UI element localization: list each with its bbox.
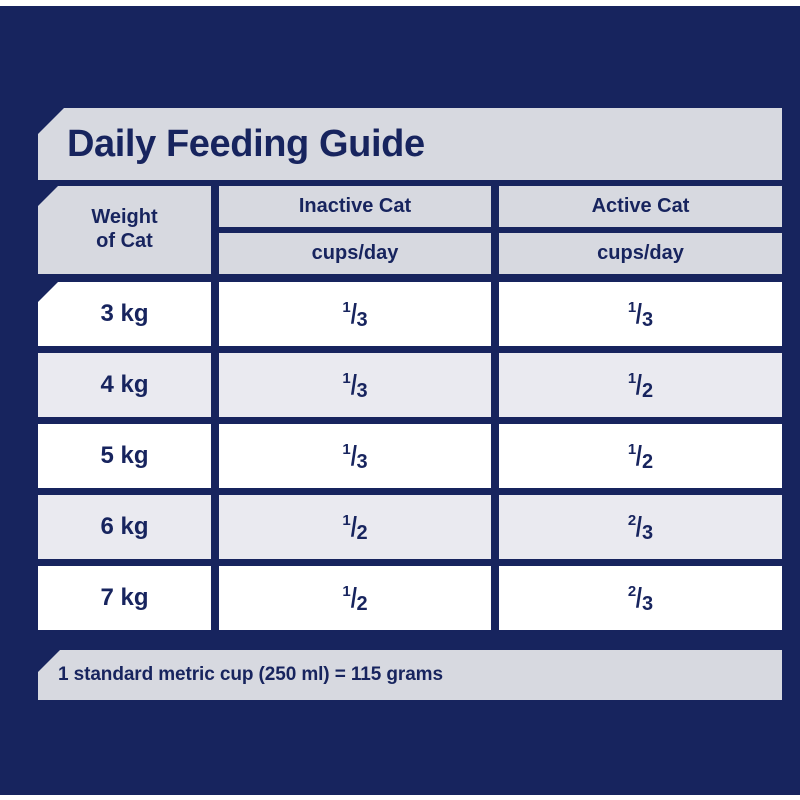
column-header-weight: Weight of Cat: [38, 186, 211, 274]
fraction-inactive: 1/2: [342, 584, 367, 612]
fraction-denominator: 2: [357, 594, 368, 614]
fraction-denominator: 2: [642, 452, 653, 472]
fraction-inactive: 1/2: [342, 513, 367, 541]
feeding-table: Weight of Cat Inactive Cat cups/day Acti…: [38, 186, 782, 638]
fraction-active: 1/2: [628, 442, 653, 470]
fraction-denominator: 3: [642, 310, 653, 330]
cell-active-amount: 1/2: [499, 424, 782, 488]
cell-weight: 4 kg: [38, 353, 211, 417]
column-header-active-unit-label: cups/day: [597, 242, 684, 266]
fraction-active: 1/2: [628, 371, 653, 399]
cell-weight: 7 kg: [38, 566, 211, 630]
cell-weight-value: 3 kg: [100, 300, 148, 328]
feeding-guide-panel: Daily Feeding Guide Weight of Cat Inacti…: [0, 0, 800, 800]
fraction-denominator: 3: [642, 594, 653, 614]
cell-inactive-amount: 1/3: [219, 424, 491, 488]
fraction-active: 1/3: [628, 300, 653, 328]
column-header-inactive: Inactive Cat: [219, 186, 491, 227]
header-banner: Daily Feeding Guide: [38, 108, 782, 180]
fraction-active: 2/3: [628, 513, 653, 541]
cell-weight-value: 6 kg: [100, 513, 148, 541]
cell-active-amount: 1/2: [499, 353, 782, 417]
column-header-active-label: Active Cat: [592, 195, 690, 219]
cell-inactive-amount: 1/3: [219, 282, 491, 346]
column-header-inactive-label: Inactive Cat: [299, 195, 411, 219]
fraction-numerator: 1: [342, 513, 350, 528]
fraction-inactive: 1/3: [342, 442, 367, 470]
column-header-active-unit: cups/day: [499, 233, 782, 274]
fraction-numerator: 1: [342, 300, 350, 315]
footer-note: 1 standard metric cup (250 ml) = 115 gra…: [58, 664, 443, 686]
column-header-inactive-unit: cups/day: [219, 233, 491, 274]
cell-inactive-amount: 1/3: [219, 353, 491, 417]
cell-active-amount: 2/3: [499, 566, 782, 630]
cell-inactive-amount: 1/2: [219, 566, 491, 630]
column-header-weight-line1: Weight: [91, 206, 157, 230]
fraction-inactive: 1/3: [342, 371, 367, 399]
cell-weight-value: 7 kg: [100, 584, 148, 612]
cell-active-amount: 1/3: [499, 282, 782, 346]
page-title: Daily Feeding Guide: [67, 125, 425, 163]
fraction-denominator: 3: [357, 381, 368, 401]
cell-weight: 3 kg: [38, 282, 211, 346]
cell-weight: 5 kg: [38, 424, 211, 488]
fraction-active: 2/3: [628, 584, 653, 612]
footer-note-bar: 1 standard metric cup (250 ml) = 115 gra…: [38, 650, 782, 700]
fraction-inactive: 1/3: [342, 300, 367, 328]
fraction-numerator: 1: [342, 442, 350, 457]
column-header-weight-line2: of Cat: [96, 230, 153, 254]
fraction-denominator: 3: [357, 452, 368, 472]
cell-weight-value: 5 kg: [100, 442, 148, 470]
fraction-denominator: 2: [357, 523, 368, 543]
fraction-denominator: 3: [642, 523, 653, 543]
column-header-inactive-unit-label: cups/day: [312, 242, 399, 266]
fraction-numerator: 1: [342, 371, 350, 386]
column-header-active: Active Cat: [499, 186, 782, 227]
fraction-numerator: 1: [342, 584, 350, 599]
cell-weight: 6 kg: [38, 495, 211, 559]
cell-active-amount: 2/3: [499, 495, 782, 559]
fraction-denominator: 2: [642, 381, 653, 401]
cell-weight-value: 4 kg: [100, 371, 148, 399]
cell-inactive-amount: 1/2: [219, 495, 491, 559]
fraction-denominator: 3: [357, 310, 368, 330]
